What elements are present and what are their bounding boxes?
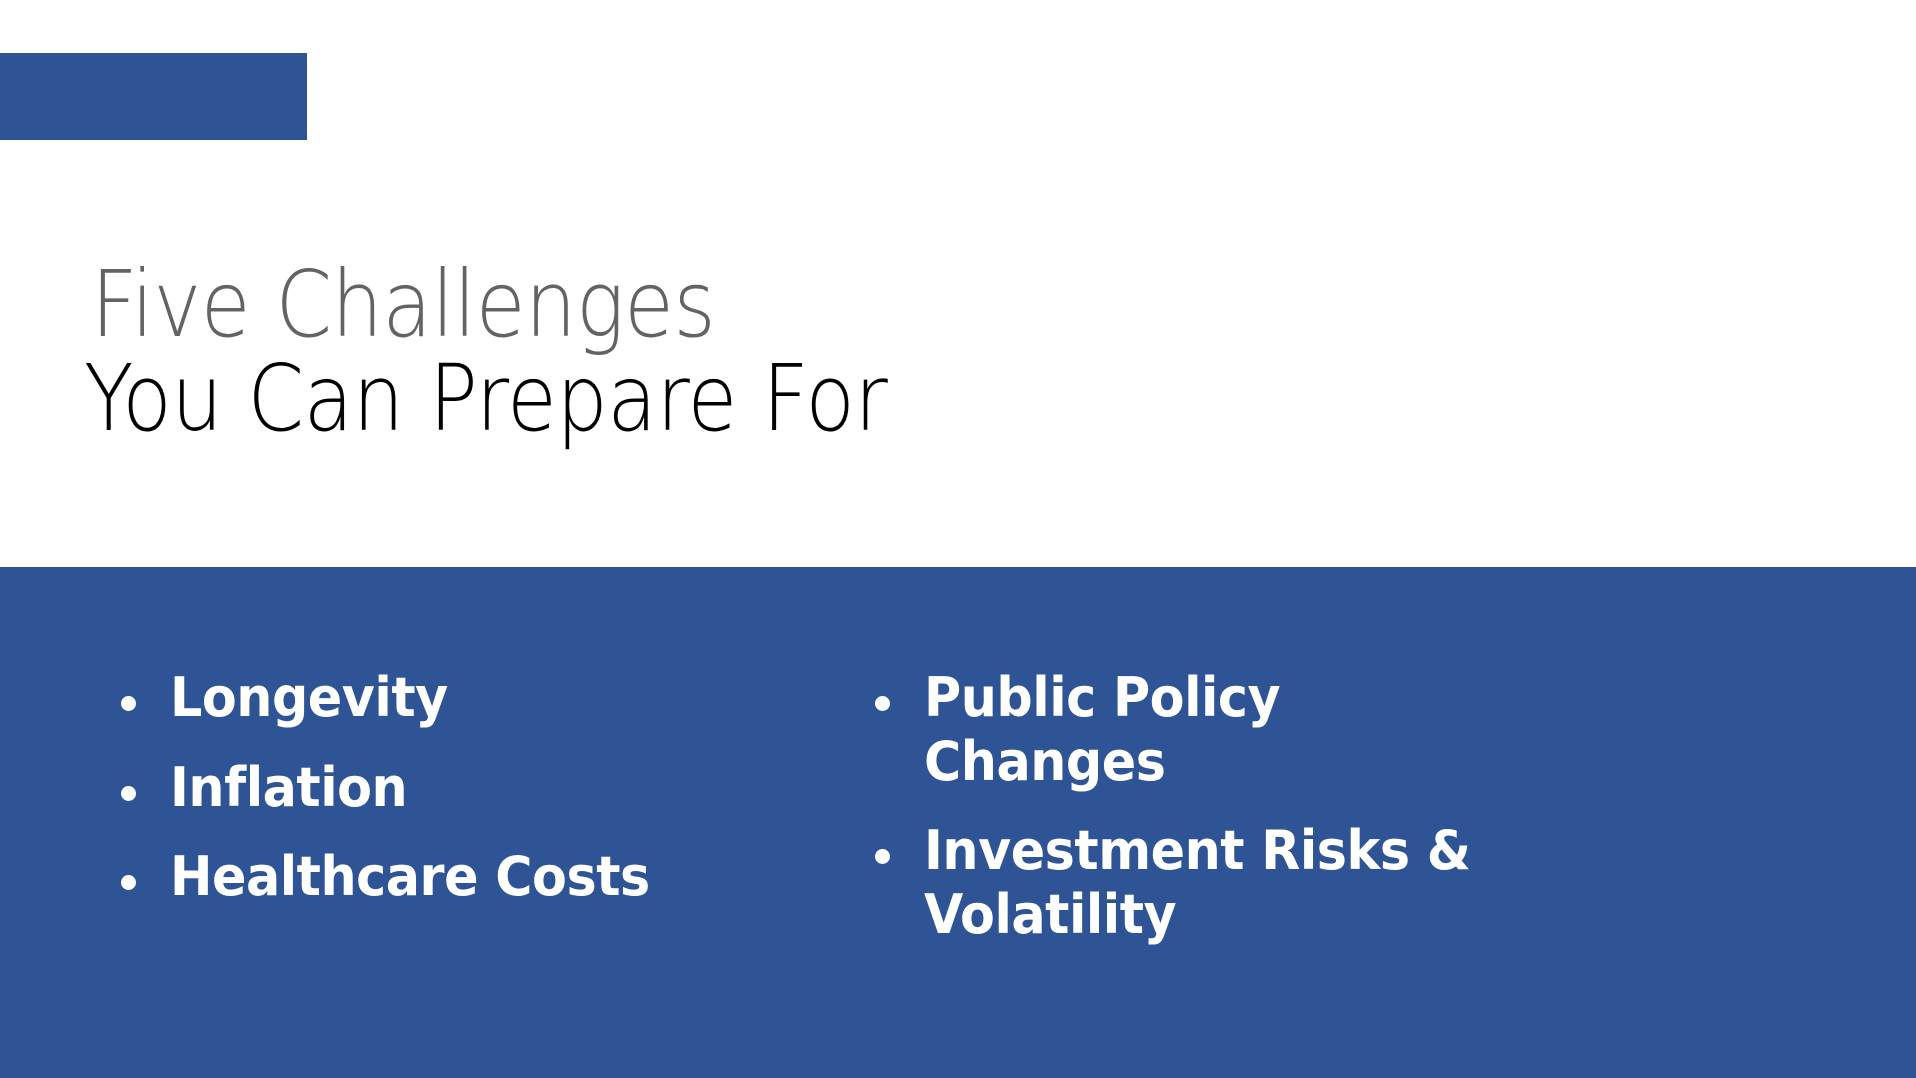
slide-title-line-2: You Can Prepare For: [84, 352, 1404, 446]
list-item: Public Policy Changes: [875, 666, 1595, 793]
list-item: Investment Risks & Volatility: [875, 819, 1595, 946]
bullet-label: Public Policy Changes: [924, 666, 1488, 793]
content-panel: Longevity Inflation Healthcare Costs Pub…: [0, 567, 1916, 1078]
bullet-columns: Longevity Inflation Healthcare Costs Pub…: [0, 567, 1916, 1078]
bullet-dot-icon: [121, 696, 136, 711]
list-item: Inflation: [121, 756, 761, 820]
bullet-dot-icon: [121, 786, 136, 801]
bullet-label: Longevity: [170, 666, 448, 730]
bullet-dot-icon: [121, 875, 136, 890]
bullet-label: Inflation: [170, 756, 407, 820]
slide-title-block: Five Challenges You Can Prepare For: [84, 258, 1584, 446]
bullet-dot-icon: [875, 696, 890, 711]
bullet-label: Investment Risks & Volatility: [924, 819, 1488, 946]
bullet-list-right: Public Policy Changes Investment Risks &…: [875, 666, 1595, 973]
bullet-dot-icon: [875, 849, 890, 864]
bullet-label: Healthcare Costs: [170, 845, 650, 909]
list-item: Healthcare Costs: [121, 845, 761, 909]
list-item: Longevity: [121, 666, 761, 730]
bullet-list-left: Longevity Inflation Healthcare Costs: [121, 666, 761, 935]
slide-title-line-1: Five Challenges: [84, 258, 1404, 352]
accent-tab-decoration: [0, 53, 307, 140]
presentation-slide: Five Challenges You Can Prepare For Long…: [0, 0, 1916, 1078]
